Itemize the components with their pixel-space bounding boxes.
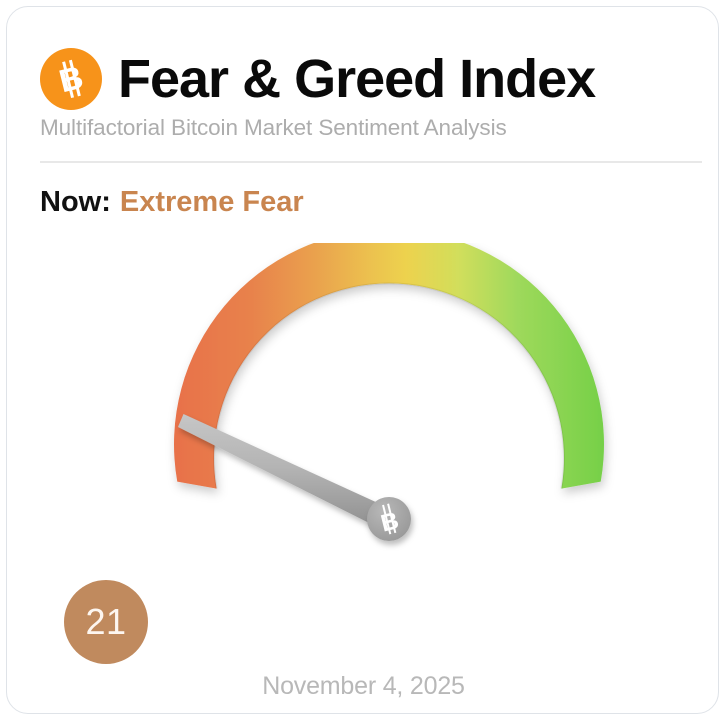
gauge-chart: B 21 [7, 243, 719, 643]
header: B Fear & Greed Index [40, 35, 702, 123]
status-line: Now:Extreme Fear [40, 185, 304, 220]
gauge-hub: B [367, 497, 411, 541]
gauge-value-text: 21 [85, 601, 126, 643]
page-title: Fear & Greed Index [118, 52, 595, 106]
date-label: November 4, 2025 [7, 672, 719, 701]
bitcoin-icon: B [40, 48, 102, 110]
status-label: Now: [40, 186, 111, 218]
gauge-value-badge: 21 [64, 580, 148, 664]
fear-greed-index-card: B Fear & Greed Index Multifactorial Bitc… [6, 6, 719, 714]
status-badge: Extreme Fear [120, 186, 304, 218]
header-divider [40, 161, 702, 163]
page-subtitle: Multifactorial Bitcoin Market Sentiment … [40, 115, 507, 141]
